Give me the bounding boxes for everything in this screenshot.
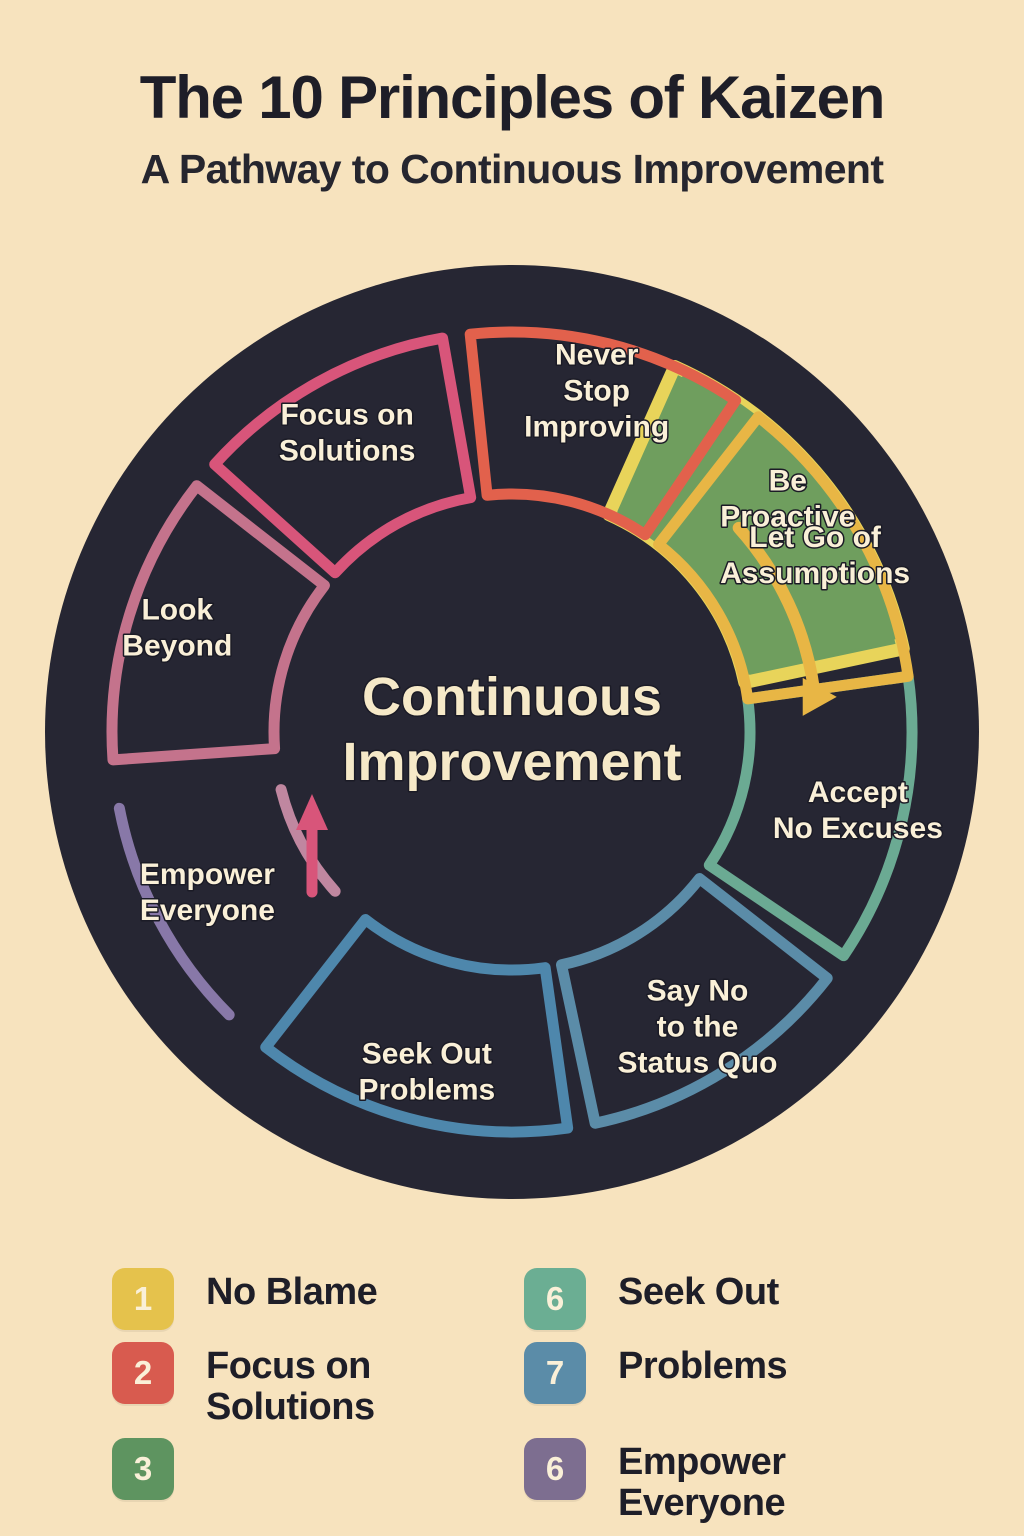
segment-label-empower-everyone: Empower	[140, 858, 275, 891]
legend-item[interactable]: 6Empower Everyone	[524, 1438, 786, 1524]
legend-label: Focus on Solutions	[206, 1342, 375, 1428]
segment-label-empower-everyone: Everyone	[140, 894, 275, 927]
segment-label-look-beyond: Look	[141, 594, 213, 627]
segment-label-look-beyond: Beyond	[122, 630, 232, 663]
legend-item[interactable]: 6Seek Out	[524, 1268, 779, 1330]
legend-column-left: 1No Blame2Focus on Solutions3	[0, 1258, 462, 1536]
legend: 1No Blame2Focus on Solutions3 6Seek Out7…	[0, 1258, 1024, 1536]
segment-label-let-go-of-assumptions: Assumptions	[720, 557, 910, 590]
legend-column-right: 6Seek Out7Problems6Empower Everyone	[462, 1258, 1024, 1536]
legend-label: Problems	[618, 1342, 787, 1387]
legend-item[interactable]: 1No Blame	[112, 1268, 377, 1330]
legend-swatch: 3	[112, 1438, 174, 1500]
legend-item[interactable]: 7Problems	[524, 1342, 787, 1404]
segment-label-focus-on-solutions: Focus on	[280, 399, 413, 432]
segment-label-let-go-of-assumptions: Let Go of	[749, 521, 882, 554]
center-label-line2: Improvement	[342, 732, 681, 792]
page-title: The 10 Principles of Kaizen	[0, 66, 1024, 129]
center-label-line1: Continuous	[362, 667, 662, 727]
segment-label-accept-no-excuses: No Excuses	[773, 812, 943, 845]
segment-label-say-no-to-the-status-quo: to the	[657, 1011, 739, 1044]
kaizen-wheel-svg: BeProactiveAcceptNo ExcusesSay Noto theS…	[20, 245, 1010, 1225]
segment-label-accept-no-excuses: Accept	[808, 776, 908, 809]
segment-label-never-stop-improving: Never	[555, 338, 639, 371]
legend-label: Seek Out	[618, 1268, 779, 1313]
infographic-page: The 10 Principles of Kaizen A Pathway to…	[0, 0, 1024, 1536]
legend-swatch: 6	[524, 1268, 586, 1330]
segment-label-say-no-to-the-status-quo: Say No	[647, 975, 749, 1008]
legend-label: No Blame	[206, 1268, 377, 1313]
legend-item[interactable]: 2Focus on Solutions	[112, 1342, 375, 1428]
segment-label-seek-out-problems: Seek Out	[362, 1037, 492, 1070]
segment-label-never-stop-improving: Stop	[563, 374, 630, 407]
legend-swatch: 1	[112, 1268, 174, 1330]
segment-label-focus-on-solutions: Solutions	[279, 435, 416, 468]
kaizen-wheel: BeProactiveAcceptNo ExcusesSay Noto theS…	[20, 245, 1010, 1225]
segment-label-seek-out-problems: Problems	[358, 1073, 495, 1106]
segment-label-say-no-to-the-status-quo: Status Quo	[617, 1047, 777, 1080]
header: The 10 Principles of Kaizen A Pathway to…	[0, 66, 1024, 192]
legend-swatch: 6	[524, 1438, 586, 1500]
legend-item[interactable]: 3	[112, 1438, 206, 1500]
legend-label: Empower Everyone	[618, 1438, 786, 1524]
legend-swatch: 7	[524, 1342, 586, 1404]
segment-label-never-stop-improving: Improving	[524, 410, 669, 443]
segment-label-be-proactive: Be	[769, 465, 807, 498]
legend-swatch: 2	[112, 1342, 174, 1404]
page-subtitle: A Pathway to Continuous Improvement	[0, 147, 1024, 192]
